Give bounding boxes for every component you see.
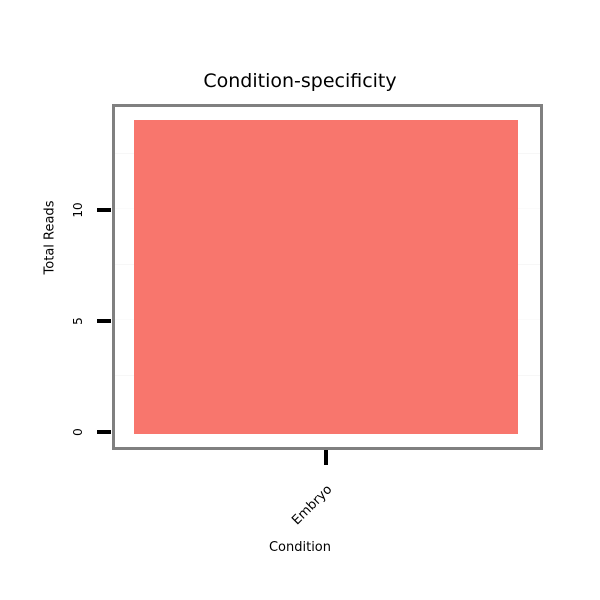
x-tick-label-embryo: Embryo <box>288 482 335 529</box>
chart-title: Condition-specificity <box>0 70 600 92</box>
chart-panel-inner <box>115 107 540 447</box>
y-tick-label-5: 5 <box>71 306 85 336</box>
bar-embryo[interactable] <box>134 120 518 434</box>
y-tick-mark-0 <box>97 430 111 434</box>
y-axis-title: Total Reads <box>43 188 58 288</box>
x-axis-title: Condition <box>0 540 600 556</box>
y-tick-label-10: 10 <box>71 195 85 225</box>
y-tick-mark-5 <box>97 319 111 323</box>
y-tick-label-0: 0 <box>71 417 85 447</box>
chart-panel <box>112 104 543 450</box>
chart-plot-area: Condition-specificity Total Reads 0 5 10… <box>0 0 600 600</box>
x-tick-mark-embryo <box>324 450 328 465</box>
y-tick-mark-10 <box>97 208 111 212</box>
